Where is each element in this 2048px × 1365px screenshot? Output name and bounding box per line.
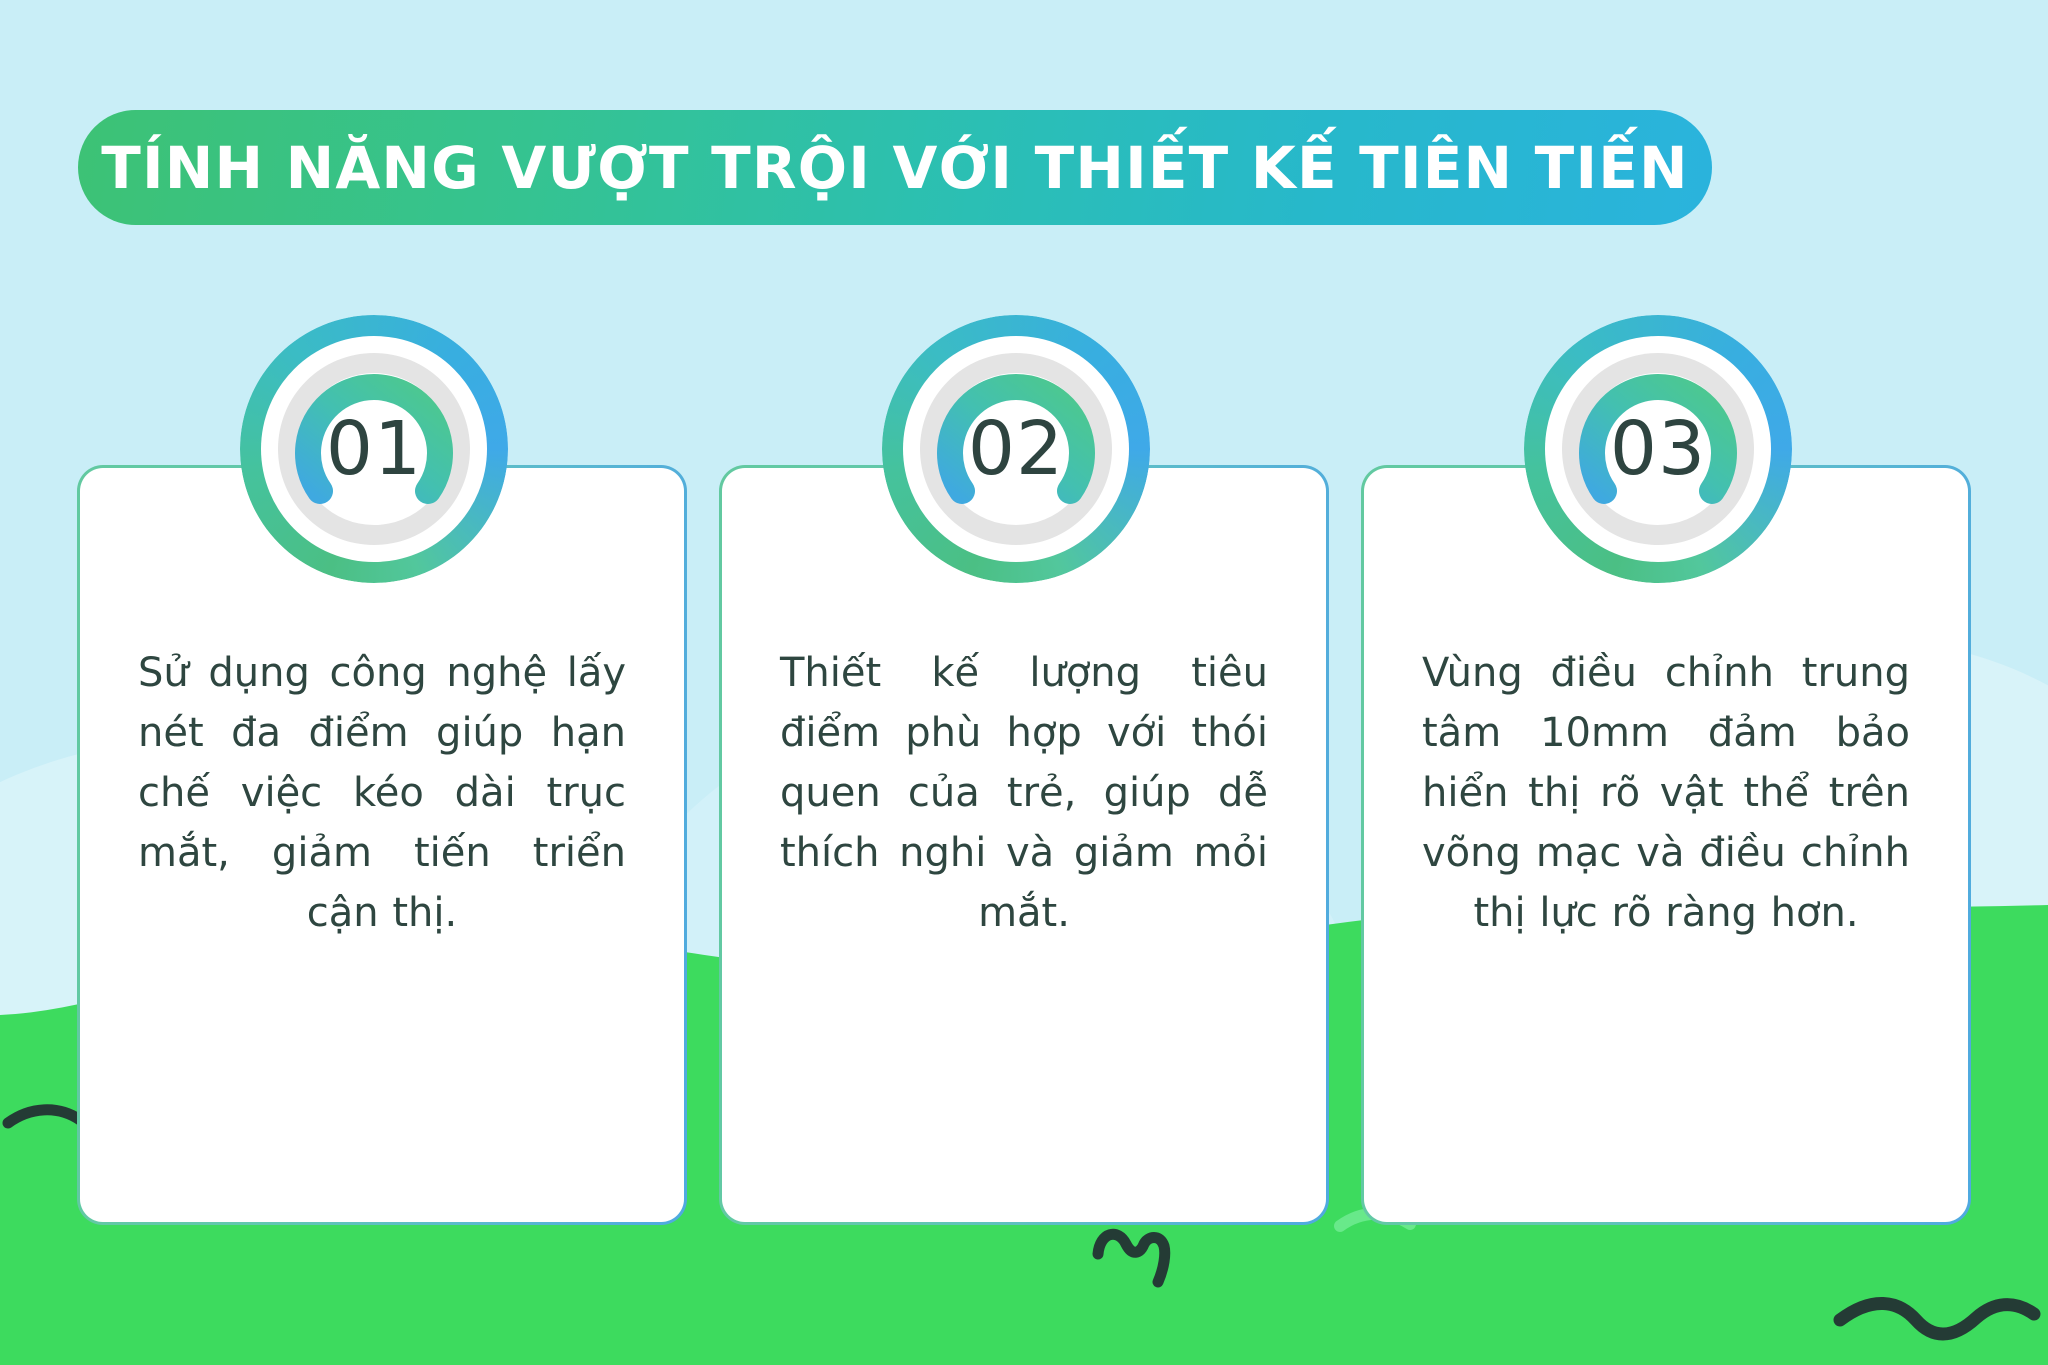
page-title: TÍNH NĂNG VƯỢT TRỘI VỚI THIẾT KẾ TIÊN TI…: [101, 139, 1689, 197]
step-badge-2: 02: [882, 315, 1150, 583]
step-badge-1: 01: [240, 315, 508, 583]
feature-card-3-text: Vùng điều chỉnh trung tâm 10mm đảm bảo h…: [1422, 643, 1910, 943]
feature-card-3[interactable]: Vùng điều chỉnh trung tâm 10mm đảm bảo h…: [1361, 465, 1971, 1225]
feature-card-2-text: Thiết kế lượng tiêu điểm phù hợp với thó…: [780, 643, 1268, 943]
step-number-1: 01: [240, 315, 508, 583]
title-banner: TÍNH NĂNG VƯỢT TRỘI VỚI THIẾT KẾ TIÊN TI…: [78, 110, 1712, 225]
step-number-3: 03: [1524, 315, 1792, 583]
feature-card-row: Sử dụng công nghệ lấy nét đa điểm giúp h…: [0, 465, 2048, 1225]
feature-card-2[interactable]: Thiết kế lượng tiêu điểm phù hợp với thó…: [719, 465, 1329, 1225]
step-badge-3: 03: [1524, 315, 1792, 583]
infographic-canvas: TÍNH NĂNG VƯỢT TRỘI VỚI THIẾT KẾ TIÊN TI…: [0, 0, 2048, 1365]
step-number-2: 02: [882, 315, 1150, 583]
feature-card-1-text: Sử dụng công nghệ lấy nét đa điểm giúp h…: [138, 643, 626, 943]
feature-card-1[interactable]: Sử dụng công nghệ lấy nét đa điểm giúp h…: [77, 465, 687, 1225]
